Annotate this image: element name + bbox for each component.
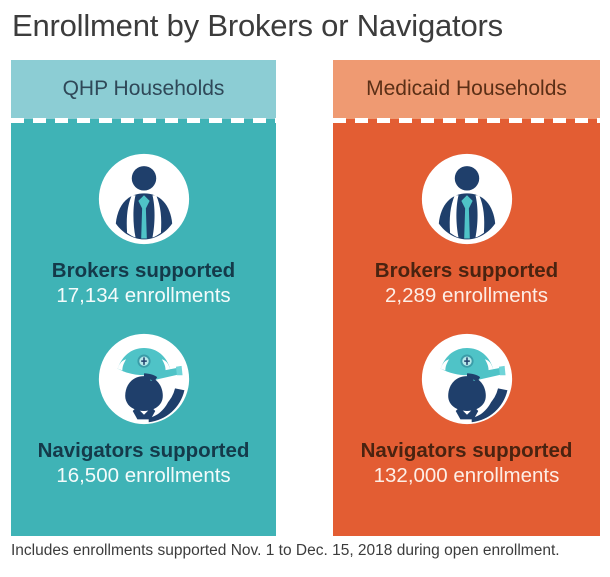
dashed-separator-qhp <box>11 118 276 123</box>
stat-block-navigators-qhp: Navigators supported 16,500 enrollments <box>11 332 276 489</box>
stat-block-brokers-qhp: Brokers supported 17,134 enrollments <box>11 152 276 309</box>
stat-value: 2,289 enrollments <box>333 283 600 309</box>
stat-block-navigators-medicaid: Navigators supported 132,000 enrollments <box>333 332 600 489</box>
stat-block-brokers-medicaid: Brokers supported 2,289 enrollments <box>333 152 600 309</box>
stat-value: 17,134 enrollments <box>11 283 276 309</box>
footnote: Includes enrollments supported Nov. 1 to… <box>11 542 603 560</box>
navigator-captain-icon <box>420 332 514 426</box>
navigator-captain-icon <box>97 332 191 426</box>
column-header-medicaid: Medicaid Households <box>333 60 600 119</box>
column-header-qhp: QHP Households <box>11 60 276 119</box>
stat-value: 16,500 enrollments <box>11 463 276 489</box>
comparison-columns: QHP Households Brokers supported 17,134 … <box>0 60 610 536</box>
stat-value: 132,000 enrollments <box>333 463 600 489</box>
column-qhp-households: QHP Households Brokers supported 17,134 … <box>11 60 276 536</box>
page-title: Enrollment by Brokers or Navigators <box>12 3 602 51</box>
column-medicaid-households: Medicaid Households Brokers supported 2,… <box>333 60 600 536</box>
broker-person-icon <box>97 152 191 246</box>
dashed-separator-medicaid <box>333 118 600 123</box>
stat-label: Navigators supported <box>11 438 276 463</box>
stat-label: Brokers supported <box>11 258 276 283</box>
broker-person-icon <box>420 152 514 246</box>
stat-label: Brokers supported <box>333 258 600 283</box>
stat-label: Navigators supported <box>333 438 600 463</box>
